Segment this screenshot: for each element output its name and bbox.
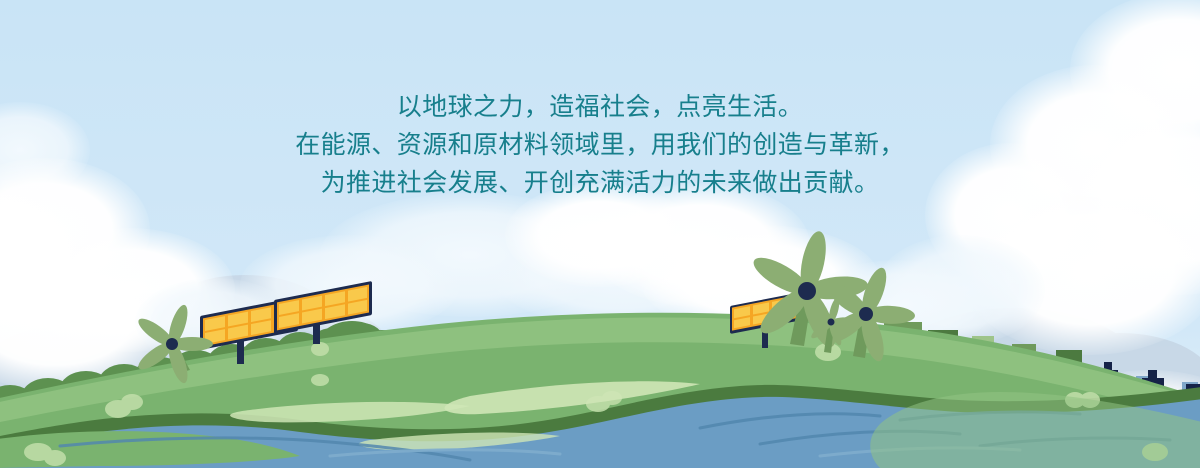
landscape-illustration <box>0 0 1200 468</box>
eco-hero-banner: 以地球之力，造福社会，点亮生活。 在能源、资源和原材料领域里，用我们的创造与革新… <box>0 0 1200 468</box>
